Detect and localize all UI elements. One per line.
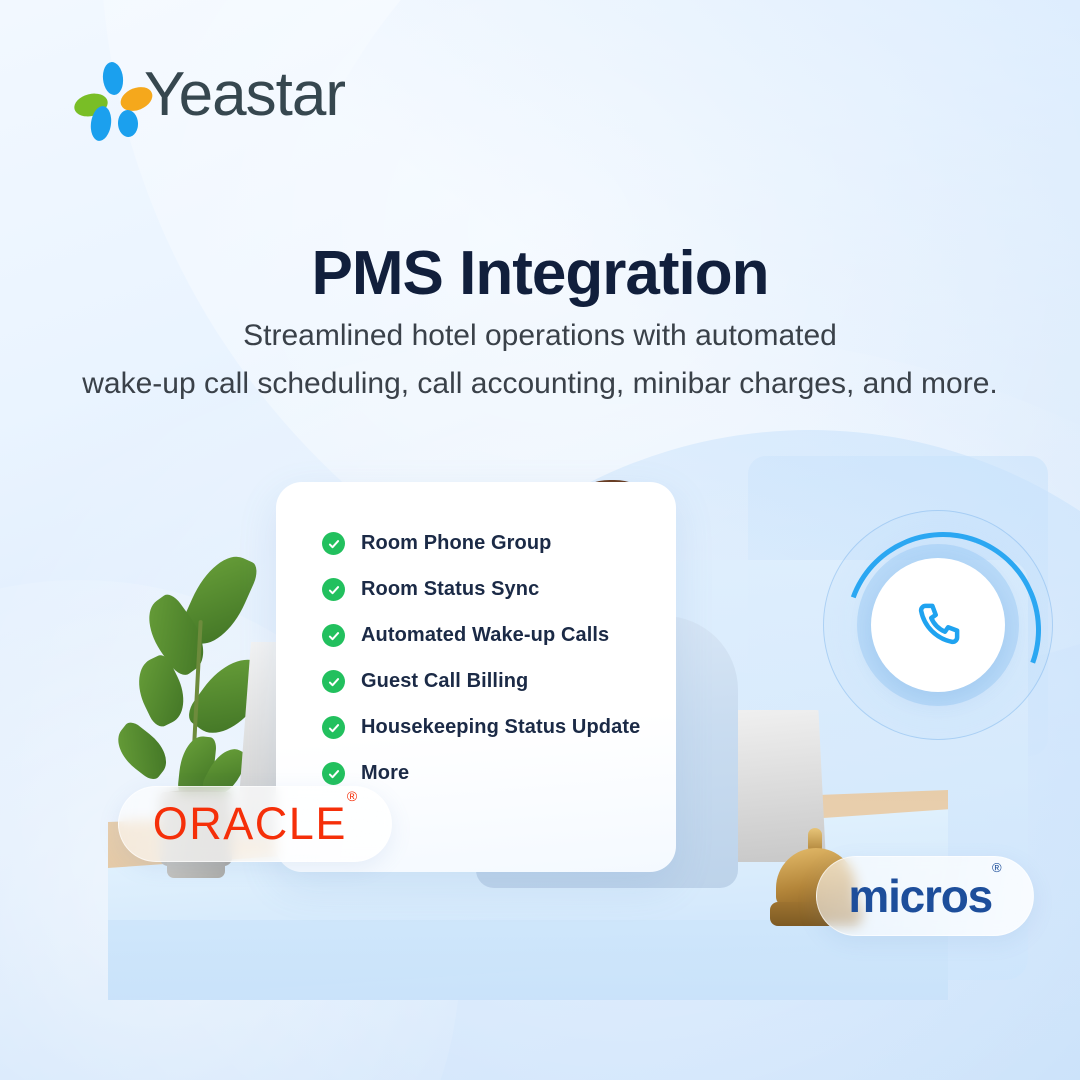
partner-badge-oracle[interactable]: ORACLE®: [118, 786, 392, 862]
check-circle-icon: [322, 578, 345, 601]
list-item[interactable]: Automated Wake-up Calls: [322, 620, 676, 651]
feature-label: Automated Wake-up Calls: [361, 624, 609, 647]
oracle-wordmark: ORACLE: [153, 798, 347, 849]
page-title: PMS Integration: [0, 238, 1080, 309]
hero-composition: Room Phone Group Room Status Sync Automa…: [108, 470, 948, 1000]
subtitle-line-2: wake-up call scheduling, call accounting…: [0, 360, 1080, 408]
micros-wordmark: micros: [848, 870, 992, 922]
feature-label: Room Status Sync: [361, 578, 539, 601]
poster-canvas: Yeastar PMS Integration Streamlined hote…: [0, 0, 1080, 1080]
phone-badge[interactable]: [871, 558, 1005, 692]
check-circle-icon: [322, 624, 345, 647]
scene-floor: [108, 920, 948, 1010]
feature-label: Housekeeping Status Update: [361, 716, 640, 739]
micros-logo: micros®: [848, 869, 1001, 923]
feature-label: Room Phone Group: [361, 532, 551, 555]
check-circle-icon: [322, 716, 345, 739]
list-item[interactable]: Room Status Sync: [322, 574, 676, 605]
oracle-logo: ORACLE®: [153, 798, 357, 850]
list-item[interactable]: Room Phone Group: [322, 528, 676, 559]
feature-label: More: [361, 762, 409, 785]
list-item[interactable]: More: [322, 758, 676, 789]
yeastar-flower-logo-icon: [78, 62, 140, 132]
check-circle-icon: [322, 670, 345, 693]
check-circle-icon: [322, 762, 345, 785]
feature-label: Guest Call Billing: [361, 670, 528, 693]
subtitle-line-1: Streamlined hotel operations with automa…: [0, 312, 1080, 360]
phone-badge-rings: [823, 510, 1053, 740]
brand-logo[interactable]: Yeastar: [78, 62, 345, 132]
registered-mark: ®: [992, 860, 1002, 875]
page-subtitle: Streamlined hotel operations with automa…: [0, 312, 1080, 408]
feature-list: Room Phone Group Room Status Sync Automa…: [322, 528, 676, 789]
partner-badge-micros[interactable]: micros®: [816, 856, 1034, 936]
logo-petal-top: [101, 61, 124, 96]
logo-petal-bottom-right: [117, 109, 138, 137]
plant-pot-base: [167, 860, 225, 878]
check-circle-icon: [322, 532, 345, 555]
phone-handset-icon: [911, 598, 965, 652]
list-item[interactable]: Guest Call Billing: [322, 666, 676, 697]
registered-mark: ®: [347, 788, 357, 804]
list-item[interactable]: Housekeeping Status Update: [322, 712, 676, 743]
brand-name: Yeastar: [144, 64, 345, 130]
plant-leaf: [108, 719, 176, 783]
